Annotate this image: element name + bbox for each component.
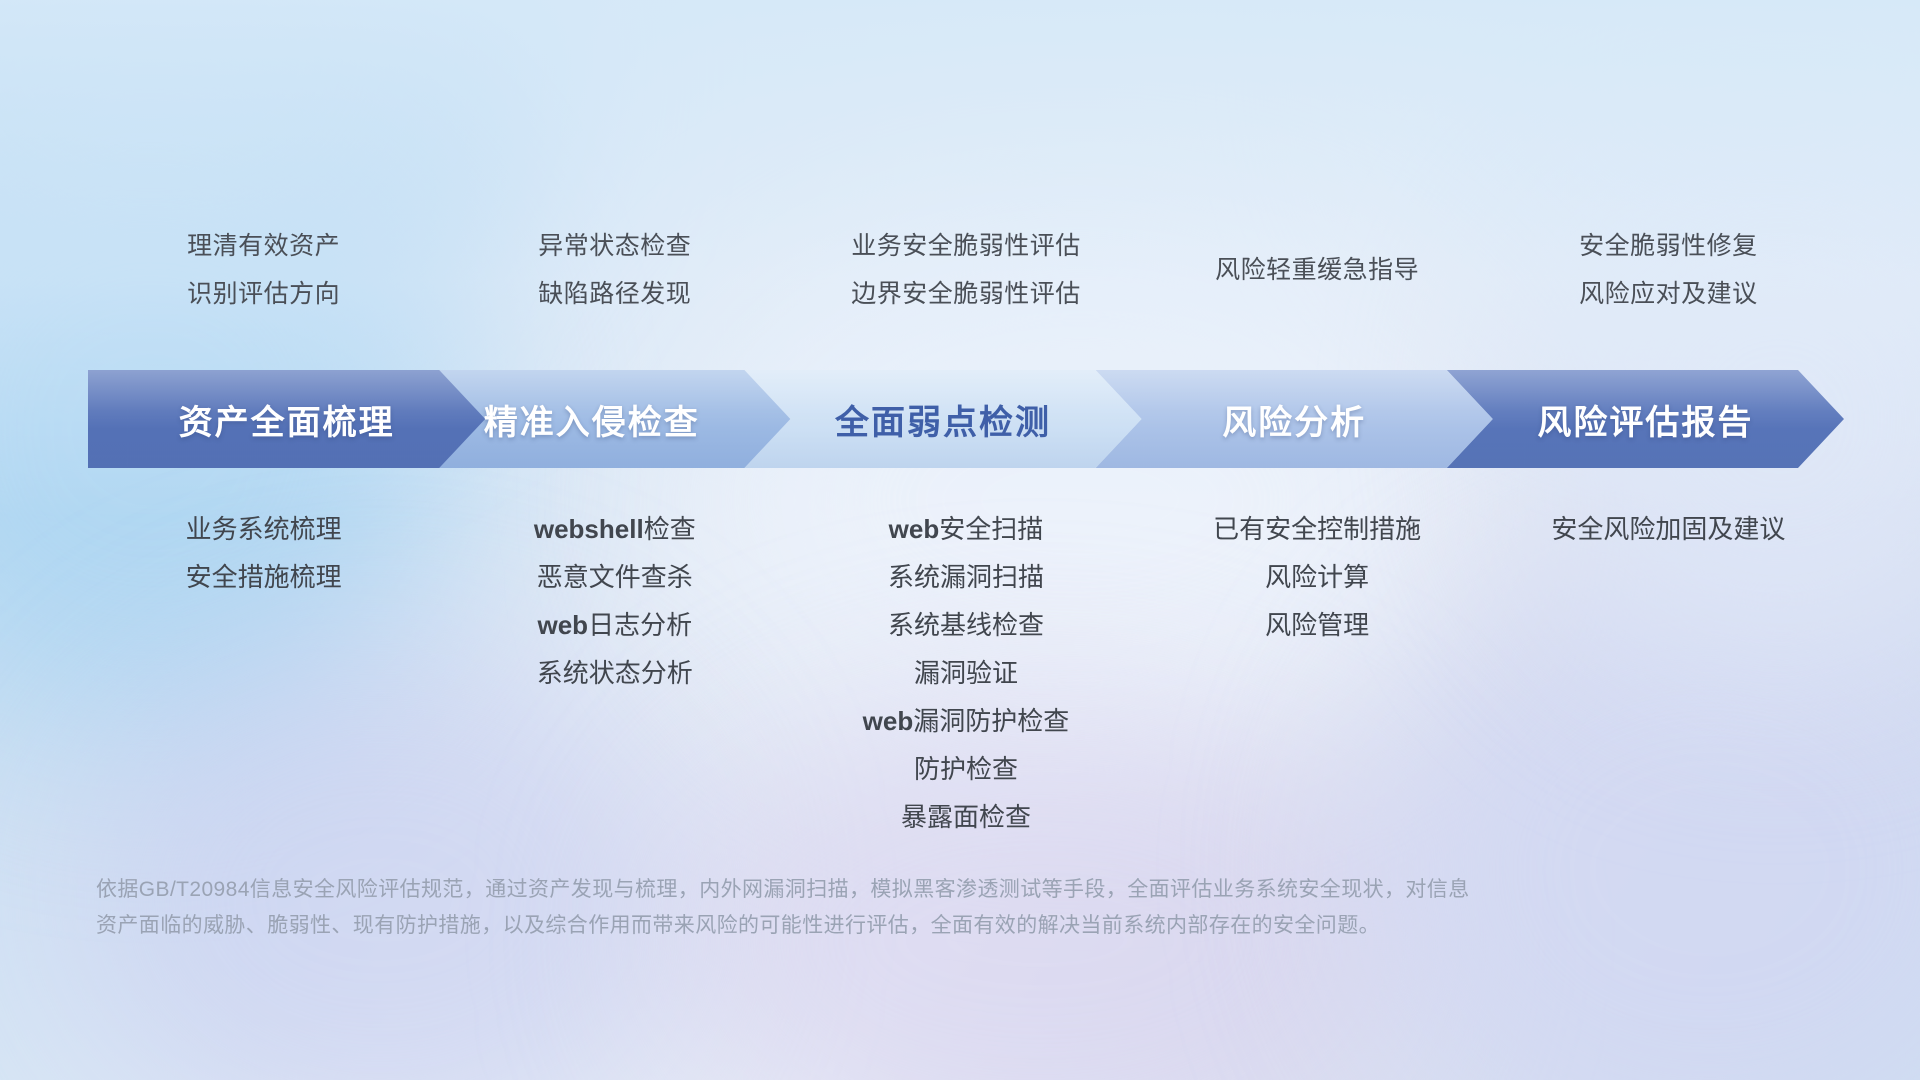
stage-detail-group-2: webshell检查恶意文件查杀web日志分析系统状态分析	[439, 505, 790, 697]
top-caption-line: 风险轻重缓急指导	[1142, 246, 1493, 294]
stage-arrow-label: 全面弱点检测	[835, 395, 1051, 444]
top-caption-line: 边界安全脆弱性评估	[790, 270, 1141, 318]
stage-detail-group-4: 已有安全控制措施风险计算风险管理	[1142, 505, 1493, 649]
top-caption-line: 业务安全脆弱性评估	[790, 222, 1141, 270]
top-caption-group-4: 风险轻重缓急指导	[1142, 222, 1493, 294]
stage-arrow-1[interactable]: 资产全面梳理	[88, 370, 485, 468]
stage-arrow-label: 资产全面梳理	[179, 395, 395, 444]
stage-detail-item: 防护检查	[790, 745, 1141, 793]
stage-detail-item: web安全扫描	[790, 505, 1141, 553]
stage-detail-item: 风险计算	[1142, 553, 1493, 601]
stage-detail-group-5: 安全风险加固及建议	[1493, 505, 1844, 553]
stage-detail-item-latin: web	[889, 514, 940, 544]
top-caption-line: 识别评估方向	[88, 270, 439, 318]
stage-arrow-5[interactable]: 风险评估报告	[1447, 370, 1844, 468]
stage-detail-row: 业务系统梳理安全措施梳理 webshell检查恶意文件查杀web日志分析系统状态…	[0, 505, 1920, 841]
footer-line: 依据GB/T20984信息安全风险评估规范，通过资产发现与梳理，内外网漏洞扫描，…	[96, 872, 1836, 908]
stage-detail-item: 风险管理	[1142, 601, 1493, 649]
footer-description: 依据GB/T20984信息安全风险评估规范，通过资产发现与梳理，内外网漏洞扫描，…	[96, 872, 1836, 944]
stage-arrow-label: 风险分析	[1222, 395, 1366, 444]
top-caption-group-1: 理清有效资产 识别评估方向	[88, 222, 439, 318]
stage-arrow-3[interactable]: 全面弱点检测	[744, 370, 1141, 468]
stage-detail-item: web漏洞防护检查	[790, 697, 1141, 745]
stage-detail-item: 恶意文件查杀	[439, 553, 790, 601]
stage-detail-item: 安全措施梳理	[88, 553, 439, 601]
stage-detail-item: 已有安全控制措施	[1142, 505, 1493, 553]
stage-detail-item: 安全风险加固及建议	[1493, 505, 1844, 553]
stage-detail-item: 漏洞验证	[790, 649, 1141, 697]
top-caption-group-5: 安全脆弱性修复 风险应对及建议	[1493, 222, 1844, 318]
top-caption-line: 缺陷路径发现	[439, 270, 790, 318]
stage-detail-item-latin: webshell	[534, 514, 644, 544]
top-caption-row: 理清有效资产 识别评估方向 异常状态检查 缺陷路径发现 业务安全脆弱性评估 边界…	[0, 222, 1920, 314]
stage-detail-group-1: 业务系统梳理安全措施梳理	[88, 505, 439, 601]
stage-detail-item-latin: web	[863, 706, 914, 736]
top-caption-group-2: 异常状态检查 缺陷路径发现	[439, 222, 790, 318]
stage-detail-item: 暴露面检查	[790, 793, 1141, 841]
stage-detail-item: web日志分析	[439, 601, 790, 649]
top-caption-group-3: 业务安全脆弱性评估 边界安全脆弱性评估	[790, 222, 1141, 318]
stage-detail-group-3: web安全扫描系统漏洞扫描系统基线检查漏洞验证web漏洞防护检查防护检查暴露面检…	[790, 505, 1141, 841]
top-caption-line: 风险应对及建议	[1493, 270, 1844, 318]
footer-line: 资产面临的威胁、脆弱性、现有防护措施，以及综合作用而带来风险的可能性进行评估，全…	[96, 908, 1836, 944]
stage-arrow-label: 风险评估报告	[1537, 395, 1753, 444]
stage-detail-item-latin: web	[537, 610, 588, 640]
top-caption-line: 理清有效资产	[88, 222, 439, 270]
stage-arrow-4[interactable]: 风险分析	[1096, 370, 1493, 468]
top-caption-line: 异常状态检查	[439, 222, 790, 270]
process-diagram: 理清有效资产 识别评估方向 异常状态检查 缺陷路径发现 业务安全脆弱性评估 边界…	[0, 0, 1920, 1080]
stage-detail-item: 业务系统梳理	[88, 505, 439, 553]
top-caption-line: 安全脆弱性修复	[1493, 222, 1844, 270]
stage-arrow-band: 资产全面梳理 精准入侵检查 全面弱点检测 风险分析 风险评估报告	[88, 370, 1844, 468]
stage-arrow-label: 精准入侵检查	[484, 395, 700, 444]
stage-detail-item: webshell检查	[439, 505, 790, 553]
stage-detail-item: 系统状态分析	[439, 649, 790, 697]
stage-detail-item: 系统漏洞扫描	[790, 553, 1141, 601]
stage-detail-item: 系统基线检查	[790, 601, 1141, 649]
